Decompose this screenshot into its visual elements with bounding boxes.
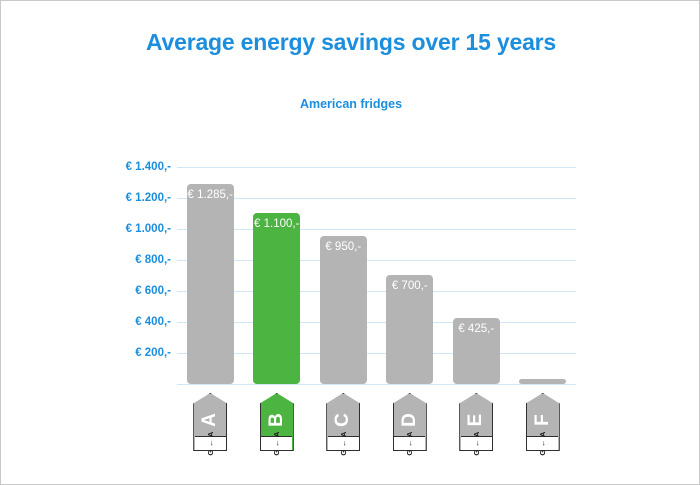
- y-axis-tick-label: € 200,-: [93, 347, 171, 359]
- bar-c: € 950,-: [320, 236, 367, 384]
- energy-label-b: BG ← A: [260, 393, 294, 451]
- energy-scale-strip: G ← A: [394, 436, 425, 450]
- energy-label-e: EG ← A: [459, 393, 493, 451]
- plot-area: € 1.285,-€ 1.100,-€ 950,-€ 700,-€ 425,-: [177, 151, 576, 384]
- energy-scale-strip: G ← A: [328, 436, 359, 450]
- gridline: [177, 260, 576, 261]
- bar-value-label: € 700,-: [386, 280, 433, 292]
- y-axis-tick-label: € 1.400,-: [93, 161, 171, 173]
- bar-value-label: € 1.100,-: [253, 218, 300, 230]
- bar-value-label: € 950,-: [320, 241, 367, 253]
- bar-a: € 1.285,-: [187, 184, 234, 384]
- energy-label-row: AG ← ABG ← ACG ← ADG ← AEG ← AFG ← A: [177, 393, 576, 455]
- gridline: [177, 353, 576, 354]
- gridline: [177, 198, 576, 199]
- bar-value-label: € 425,-: [453, 323, 500, 335]
- energy-label-d: DG ← A: [393, 393, 427, 451]
- bar-b: € 1.100,-: [253, 213, 300, 384]
- energy-label-c: CG ← A: [326, 393, 360, 451]
- gridline: [177, 291, 576, 292]
- energy-scale-strip: G ← A: [461, 436, 492, 450]
- gridline: [177, 167, 576, 168]
- gridline: [177, 322, 576, 323]
- energy-scale-text: G ← A: [470, 428, 483, 459]
- energy-label-a: AG ← A: [193, 393, 227, 451]
- energy-scale-strip: G ← A: [261, 436, 292, 450]
- y-axis: € 200,-€ 400,-€ 600,-€ 800,-€ 1.000,-€ 1…: [91, 151, 171, 384]
- y-axis-tick-label: € 600,-: [93, 285, 171, 297]
- gridline: [177, 229, 576, 230]
- chart-page: Average energy savings over 15 years Ame…: [0, 0, 700, 485]
- bar-d: € 700,-: [386, 275, 433, 384]
- page-title: Average energy savings over 15 years: [1, 29, 700, 56]
- energy-label-f: FG ← A: [526, 393, 560, 451]
- energy-scale-text: G ← A: [204, 428, 217, 459]
- y-axis-tick-label: € 1.000,-: [93, 223, 171, 235]
- y-axis-tick-label: € 400,-: [93, 316, 171, 328]
- energy-scale-text: G ← A: [270, 428, 283, 459]
- energy-scale-strip: G ← A: [195, 436, 226, 450]
- y-axis-tick-label: € 800,-: [93, 254, 171, 266]
- energy-scale-text: G ← A: [536, 428, 549, 459]
- bar-e: € 425,-: [453, 318, 500, 384]
- y-axis-tick-label: € 1.200,-: [93, 192, 171, 204]
- energy-scale-text: G ← A: [337, 428, 350, 459]
- energy-scale-strip: G ← A: [527, 436, 558, 450]
- x-axis-line: [177, 384, 576, 385]
- chart-subtitle: American fridges: [1, 97, 700, 111]
- bar-value-label: € 1.285,-: [187, 189, 234, 201]
- energy-scale-text: G ← A: [403, 428, 416, 459]
